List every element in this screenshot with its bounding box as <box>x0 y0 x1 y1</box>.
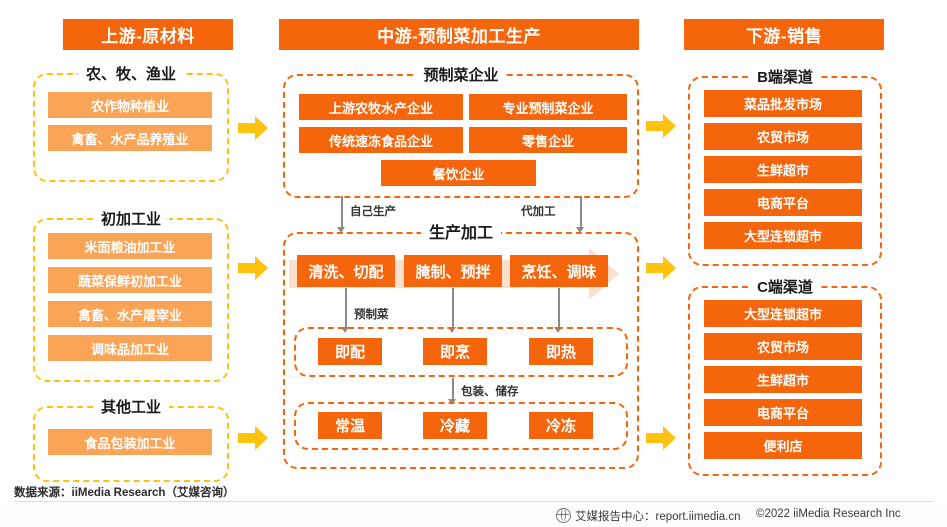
ready-meal-item[interactable]: 即配 <box>318 338 382 365</box>
group-title: 生产加工 <box>421 226 501 242</box>
connector-line-ready <box>452 288 454 328</box>
process-step[interactable]: 烹饪、调味 <box>510 255 608 287</box>
enterprise-item[interactable]: 专业预制菜企业 <box>469 94 627 120</box>
upstream-item[interactable]: 蔬菜保鲜初加工业 <box>48 267 212 293</box>
connector-label-oem: 代加工 <box>521 203 556 219</box>
enterprise-item[interactable]: 零售企业 <box>469 127 627 153</box>
ready-meal-item[interactable]: 即热 <box>529 338 593 365</box>
enterprise-item[interactable]: 上游农牧水产企业 <box>299 94 463 120</box>
connector-label-self-production: 自己生产 <box>350 203 396 219</box>
flow-arrow-icon <box>646 112 676 140</box>
upstream-item[interactable]: 农作物种植业 <box>48 92 212 118</box>
storage-item[interactable]: 冷冻 <box>529 412 593 439</box>
process-step[interactable]: 清洗、切配 <box>297 255 395 287</box>
downstream-item[interactable]: 便利店 <box>704 432 862 459</box>
connector-line-self-production <box>341 196 343 228</box>
downstream-item[interactable]: 大型连锁超市 <box>704 222 862 249</box>
packaging-label: 包装、储存 <box>461 383 519 399</box>
downstream-item[interactable]: 菜品批发市场 <box>704 90 862 117</box>
process-step[interactable]: 腌制、预拌 <box>404 255 502 287</box>
flow-arrow-icon <box>238 424 268 452</box>
midstream-enterprise-group: 预制菜企业 上游农牧水产企业 专业预制菜企业 传统速冻食品企业 零售企业 餐饮企… <box>283 74 639 198</box>
enterprise-item[interactable]: 传统速冻食品企业 <box>299 127 463 153</box>
group-title: B端渠道 <box>749 70 821 86</box>
report-center-text: 艾媒报告中心：report.iimedia.cn <box>575 508 741 524</box>
connector-line-oem <box>580 196 582 228</box>
upstream-item[interactable]: 食品包装加工业 <box>48 429 212 455</box>
downstream-item[interactable]: 农贸市场 <box>704 123 862 150</box>
copyright-text: ©2022 iiMedia Research Inc <box>756 508 901 520</box>
flow-arrow-icon <box>646 254 676 282</box>
flow-arrow-icon <box>238 254 268 282</box>
globe-icon <box>556 508 571 523</box>
upstream-item[interactable]: 米面粮油加工业 <box>48 233 212 259</box>
data-source-text: 数据来源：iiMedia Research（艾媒咨询） <box>14 484 234 500</box>
upstream-item[interactable]: 调味品加工业 <box>48 335 212 361</box>
upstream-item[interactable]: 禽畜、水产品养殖业 <box>48 125 212 151</box>
upstream-group-other-industry: 其他工业 食品包装加工业 <box>33 406 229 482</box>
ready-meal-subgroup: 即配 即烹 即热 <box>294 327 628 377</box>
flow-arrow-icon <box>238 114 268 142</box>
storage-subgroup: 常温 冷藏 冷冻 <box>294 402 628 450</box>
downstream-item[interactable]: 大型连锁超市 <box>704 300 862 327</box>
storage-item[interactable]: 常温 <box>318 412 382 439</box>
group-title: 预制菜企业 <box>415 68 506 84</box>
connector-line-ready <box>345 288 347 328</box>
downstream-group-b-channel: B端渠道 菜品批发市场 农贸市场 生鲜超市 电商平台 大型连锁超市 <box>688 76 882 266</box>
group-title: 其他工业 <box>93 400 169 416</box>
downstream-item[interactable]: 电商平台 <box>704 399 862 426</box>
upstream-item[interactable]: 禽畜、水产屠宰业 <box>48 301 212 327</box>
downstream-item[interactable]: 生鲜超市 <box>704 366 862 393</box>
connector-line-packaging <box>452 378 454 400</box>
downstream-header: 下游-销售 <box>684 19 884 50</box>
midstream-header: 中游-预制菜加工生产 <box>279 19 639 50</box>
footer-divider <box>14 501 933 502</box>
ready-meal-label: 预制菜 <box>354 306 389 322</box>
downstream-item[interactable]: 电商平台 <box>704 189 862 216</box>
infographic-canvas: 上游-原材料 中游-预制菜加工生产 下游-销售 农、牧、渔业 农作物种植业 禽畜… <box>0 0 947 527</box>
enterprise-item[interactable]: 餐饮企业 <box>381 160 536 186</box>
group-title: C端渠道 <box>749 280 821 296</box>
downstream-item[interactable]: 生鲜超市 <box>704 156 862 183</box>
upstream-group-agriculture: 农、牧、渔业 农作物种植业 禽畜、水产品养殖业 <box>33 73 229 182</box>
connector-line-ready <box>558 288 560 328</box>
upstream-group-primary-processing: 初加工业 米面粮油加工业 蔬菜保鲜初加工业 禽畜、水产屠宰业 调味品加工业 <box>33 218 229 382</box>
upstream-header: 上游-原材料 <box>63 19 233 50</box>
group-title: 农、牧、渔业 <box>78 67 184 83</box>
downstream-group-c-channel: C端渠道 大型连锁超市 农贸市场 生鲜超市 电商平台 便利店 <box>688 286 882 476</box>
downstream-item[interactable]: 农贸市场 <box>704 333 862 360</box>
ready-meal-item[interactable]: 即烹 <box>423 338 487 365</box>
flow-arrow-icon <box>646 424 676 452</box>
group-title: 初加工业 <box>93 212 169 228</box>
storage-item[interactable]: 冷藏 <box>423 412 487 439</box>
